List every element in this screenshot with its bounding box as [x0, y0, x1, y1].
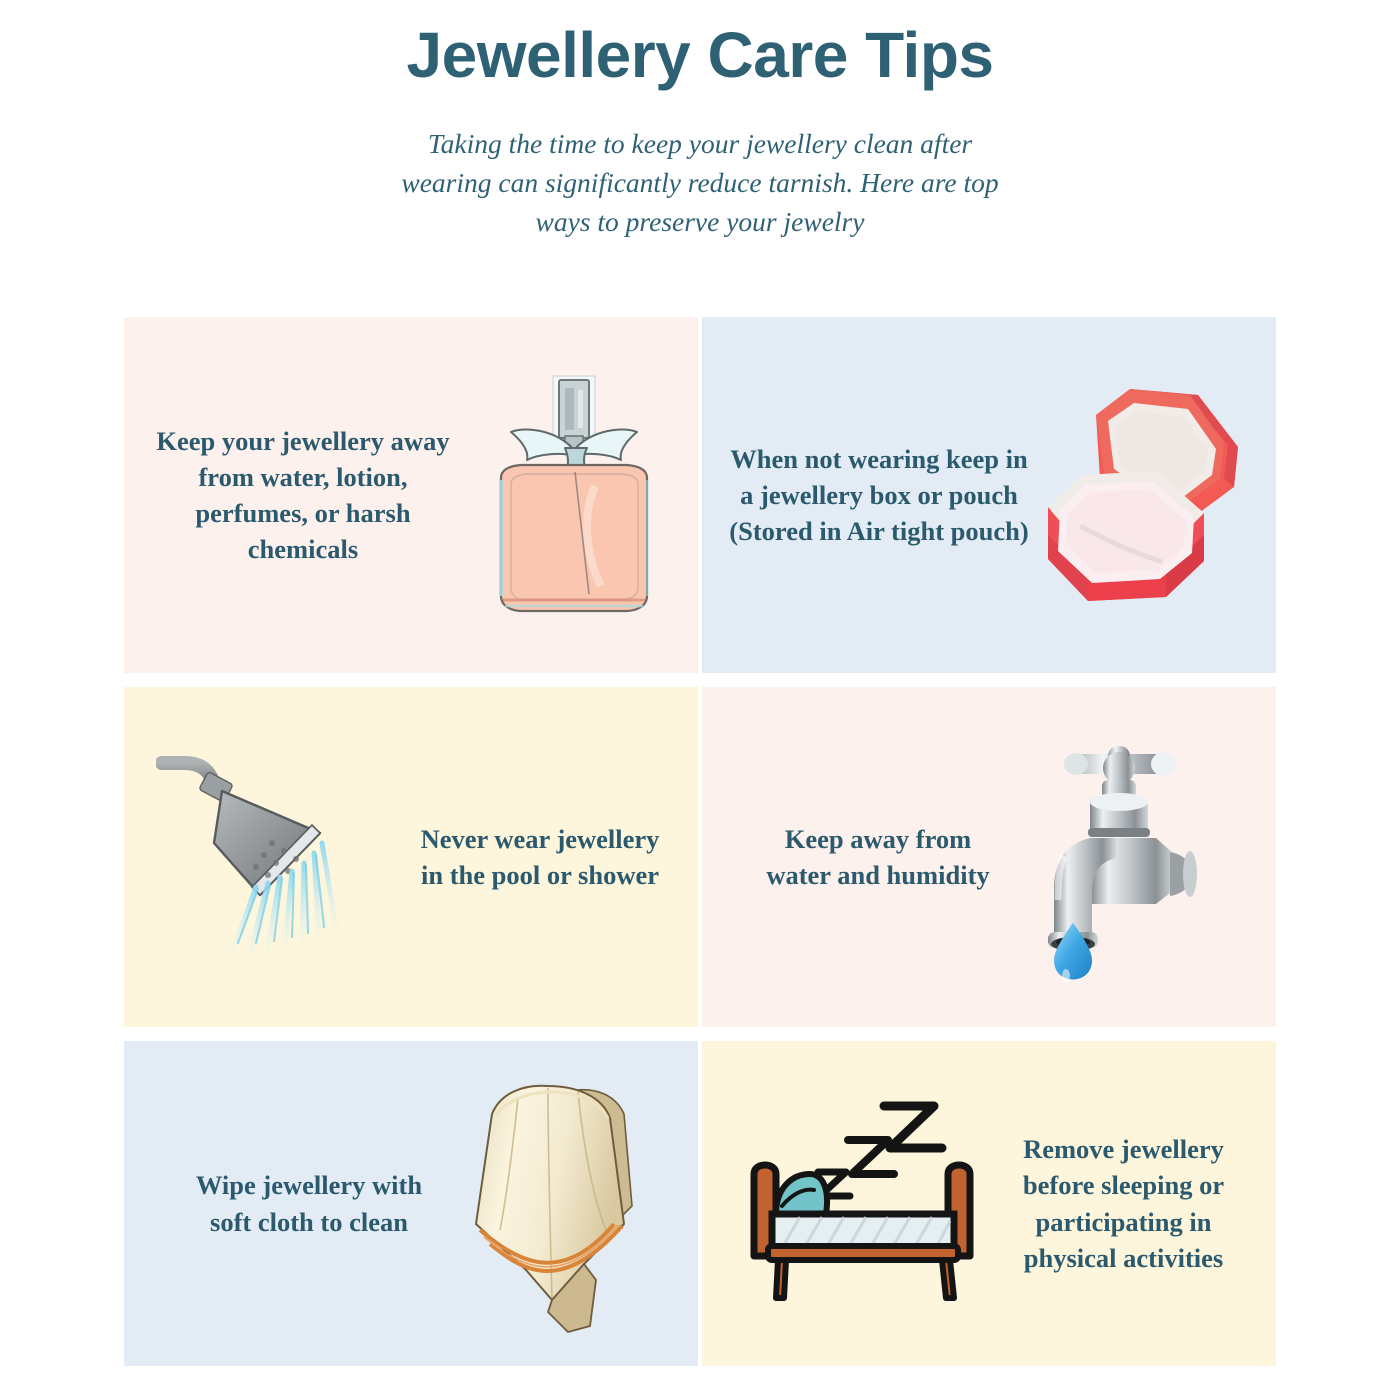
tip-text-sleep: Remove jewellery before sleeping or part… — [1001, 1131, 1276, 1275]
tip-art-jewellery-box — [1032, 317, 1276, 673]
tip-art-cloth — [444, 1041, 698, 1366]
tip-text-shower: Never wear jewellery in the pool or show… — [408, 821, 698, 893]
ring-box-icon — [1038, 375, 1263, 615]
tip-text-faucet: Keep away from water and humidity — [702, 821, 1002, 893]
perfume-bottle-icon — [477, 368, 667, 623]
tip-art-perfume — [464, 317, 698, 673]
tip-card-perfume[interactable]: Keep your jewellery away from water, lot… — [124, 317, 698, 673]
tip-card-sleep[interactable]: Remove jewellery before sleeping or part… — [702, 1041, 1276, 1366]
tip-text-jewellery-box: When not wearing keep in a jewellery box… — [702, 441, 1032, 549]
tip-art-faucet — [1002, 687, 1276, 1027]
page-subtitle: Taking the time to keep your jewellery c… — [380, 124, 1020, 241]
tips-grid: Keep your jewellery away from water, lot… — [124, 317, 1276, 1366]
tip-card-jewellery-box[interactable]: When not wearing keep in a jewellery box… — [702, 317, 1276, 673]
infographic-page: Jewellery Care Tips Taking the time to k… — [0, 0, 1400, 1400]
tip-art-sleep — [702, 1041, 1001, 1366]
shower-head-icon — [156, 747, 386, 967]
cloth-icon — [456, 1074, 656, 1334]
bed-sleep-icon — [742, 1096, 992, 1311]
tip-text-cloth: Wipe jewellery with soft cloth to clean — [124, 1167, 444, 1239]
tip-card-faucet[interactable]: Keep away from water and humidity — [702, 687, 1276, 1027]
faucet-icon — [1024, 732, 1224, 982]
tip-text-perfume: Keep your jewellery away from water, lot… — [124, 423, 464, 567]
tip-art-shower — [124, 687, 408, 1027]
page-title: Jewellery Care Tips — [0, 22, 1400, 90]
tip-card-cloth[interactable]: Wipe jewellery with soft cloth to clean — [124, 1041, 698, 1366]
tip-card-shower[interactable]: Never wear jewellery in the pool or show… — [124, 687, 698, 1027]
header: Jewellery Care Tips Taking the time to k… — [0, 0, 1400, 241]
